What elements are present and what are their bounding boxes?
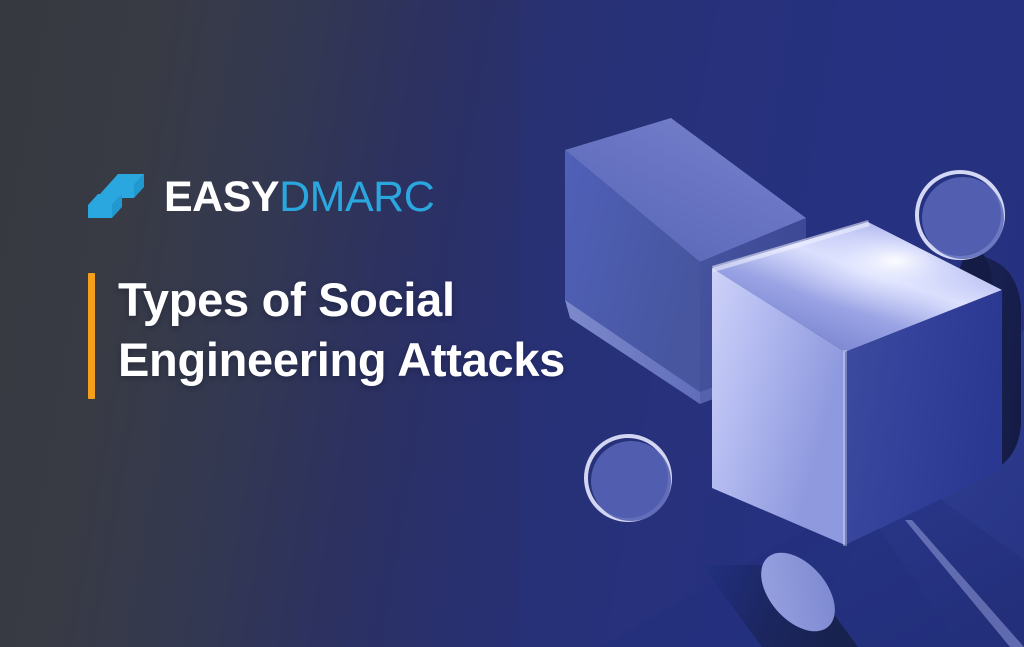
wordmark-easy: EASY (164, 173, 279, 221)
dark-cylinder-right (957, 250, 1021, 475)
ring-circle-bottom-left (586, 436, 671, 521)
page-title-line-1: Types of Social (118, 270, 688, 330)
floating-cube-main (712, 220, 1002, 546)
light-cylinder-bottom (702, 539, 858, 647)
accent-bar (88, 273, 95, 399)
ring-circle-top-right (917, 172, 1004, 259)
easydmarc-logo-mark-icon (88, 172, 148, 222)
wordmark-dmarc: DMARC (279, 173, 434, 221)
brand-logo[interactable]: EASYDMARC (88, 168, 688, 226)
page-title-line-2: Engineering Attacks (118, 330, 688, 390)
page-title: Types of Social Engineering Attacks (118, 270, 688, 390)
brand-wordmark: EASYDMARC (164, 176, 434, 219)
headline-block: Types of Social Engineering Attacks (88, 270, 688, 390)
cover-banner: EASYDMARC Types of Social Engineering At… (0, 0, 1024, 647)
content-column: EASYDMARC Types of Social Engineering At… (88, 168, 688, 390)
